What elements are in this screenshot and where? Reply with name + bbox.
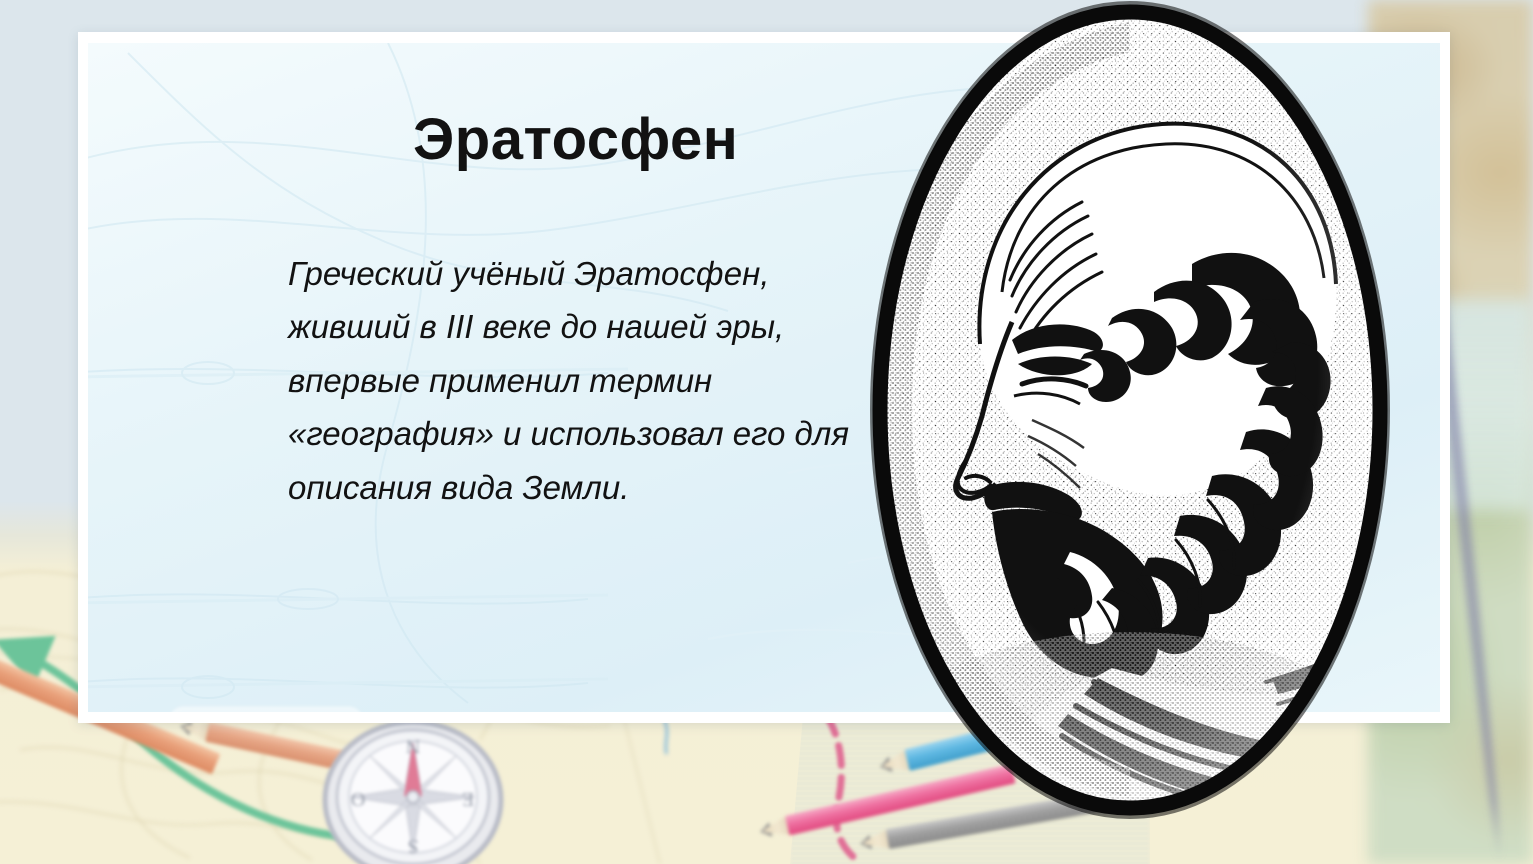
title-block: Эратосфен [413,110,738,171]
compass-north: N [406,735,420,757]
compass-east: E [462,788,474,810]
eratosthenes-portrait [862,0,1422,830]
compass-icon: N S E O [318,712,508,864]
body-paragraph: Греческий учёный Эратосфен, живший в III… [288,247,858,514]
slide: N S E O [0,0,1533,864]
card-label-pill [170,707,362,712]
compass-south: S [407,835,418,857]
page-title: Эратосфен [413,110,738,171]
compass-west: O [351,788,365,810]
body-block: Греческий учёный Эратосфен, живший в III… [288,247,858,514]
